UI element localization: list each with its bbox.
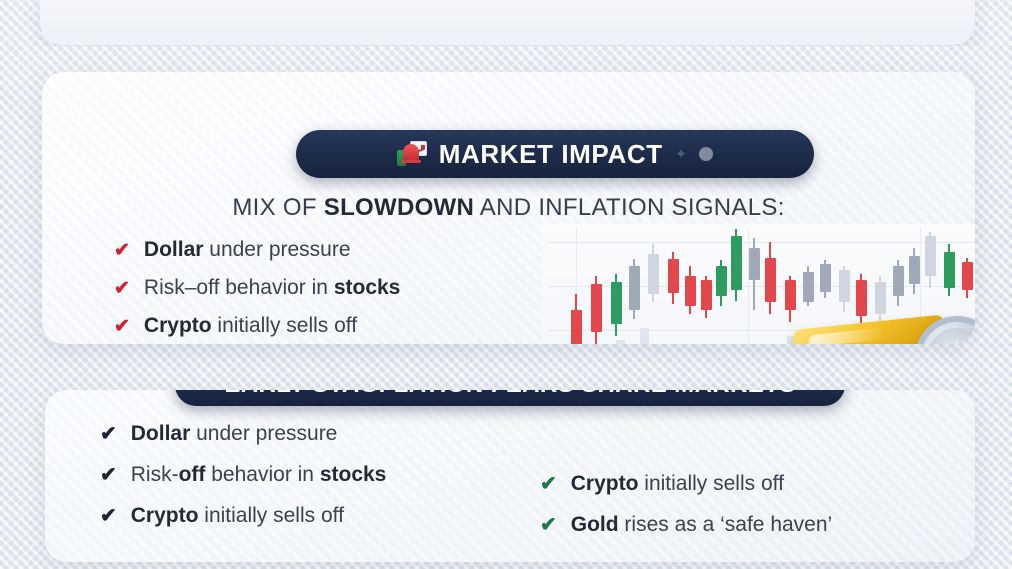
market-impact-title: MARKET IMPACT: [439, 139, 663, 170]
list-item-rest: initially sells off: [212, 314, 358, 337]
impact-subtitle-prefix: MIX OF: [232, 194, 323, 221]
list-item-label: Crypto initially sells off: [131, 504, 344, 528]
list-item-rest: initially sells off: [638, 472, 784, 495]
check-icon: ✔: [114, 317, 130, 336]
sparkle-icon: ✦: [675, 147, 688, 162]
impact-bullet-list: ✔ Dollar under pressure ✔ Risk–off behav…: [114, 238, 544, 344]
list-item-rest: initially sells off: [198, 504, 344, 527]
list-item-bold: stocks: [320, 463, 387, 486]
chart-alert-emoji-icon: [397, 141, 427, 167]
list-item: ✔ Dollar under pressure: [100, 422, 515, 446]
list-item-bold: Crypto: [131, 504, 199, 527]
list-item-rest: rises as a ‘safe haven’: [619, 513, 833, 536]
gold-bars-and-coin-illustration: $: [771, 288, 975, 344]
check-icon: ✔: [100, 465, 117, 485]
check-icon: ✔: [114, 279, 130, 298]
impact-subtitle-suffix: AND INFLATION SIGNALS:: [474, 194, 785, 221]
list-item-label: Crypto initially sells off: [144, 314, 357, 338]
check-icon: ✔: [100, 506, 117, 526]
market-impact-badge: MARKET IMPACT ✦: [296, 130, 814, 178]
summary-badge: EARLY STAGFLATION FEARS SHAKE MARKETS: [175, 390, 845, 406]
check-icon: ✔: [540, 474, 557, 494]
list-item-label: Crypto initially sells off: [571, 472, 784, 496]
list-item: ✔ Crypto initially sells off: [100, 504, 515, 528]
list-item-rest: Risk-: [131, 463, 179, 486]
list-item-bold: Crypto: [144, 314, 212, 337]
market-impact-card: MARKET IMPACT ✦ MIX OF SLOWDOWN AND INFL…: [42, 72, 975, 344]
list-item-label: Risk-off behavior in stocks: [131, 463, 387, 487]
list-item: ✔ Gold rises as a ‘safe haven’: [540, 513, 975, 537]
list-item-label: Gold rises as a ‘safe haven’: [571, 513, 832, 537]
list-item-rest-2: behavior in: [205, 463, 319, 486]
summary-left-column: ✔ Dollar under pressure ✔ Risk-off behav…: [45, 422, 515, 554]
list-item: ✔ Risk–off behavior in stocks: [114, 276, 544, 300]
list-item: ✔ Dollar under pressure: [114, 238, 544, 262]
list-item-bold: Dollar: [144, 238, 204, 261]
list-item-rest: Risk–off behavior in: [144, 276, 334, 299]
previous-section-strip: inflation further stay weak: [0, 0, 1012, 46]
list-item-bold: stocks: [334, 276, 401, 299]
list-item-bold: Crypto: [571, 472, 639, 495]
list-item: ✔ Risk-off behavior in stocks: [100, 463, 515, 487]
check-icon: ✔: [100, 424, 117, 444]
summary-right-column: ✔ Crypto initially sells off ✔ Gold rise…: [515, 422, 975, 554]
list-item-label: Dollar under pressure: [131, 422, 338, 446]
list-item-bold: Dollar: [131, 422, 191, 445]
summary-title: EARLY STAGFLATION FEARS SHAKE MARKETS: [224, 390, 795, 399]
list-item-bold: Gold: [571, 513, 619, 536]
previous-section-card: inflation further stay weak: [40, 0, 975, 45]
list-item: ✔ Crypto initially sells off: [540, 472, 975, 496]
impact-subtitle: MIX OF SLOWDOWN AND INFLATION SIGNALS:: [42, 194, 975, 222]
summary-columns: ✔ Dollar under pressure ✔ Risk-off behav…: [45, 422, 975, 554]
dollar-symbol: $: [927, 328, 975, 344]
candlestick-chart-illustration: $: [542, 224, 975, 344]
list-item-rest: under pressure: [190, 422, 337, 445]
badge-dot-icon: [699, 147, 713, 161]
list-item-rest: under pressure: [203, 238, 350, 261]
summary-card: EARLY STAGFLATION FEARS SHAKE MARKETS ✔ …: [45, 390, 975, 562]
list-item-mid-bold: off: [179, 463, 206, 486]
list-item-label: Risk–off behavior in stocks: [144, 276, 400, 300]
list-item: ✔ Crypto initially sells off: [114, 314, 544, 338]
check-icon: ✔: [114, 241, 130, 260]
impact-subtitle-bold: SLOWDOWN: [324, 194, 474, 221]
check-icon: ✔: [540, 515, 557, 535]
list-item-label: Dollar under pressure: [144, 238, 351, 262]
